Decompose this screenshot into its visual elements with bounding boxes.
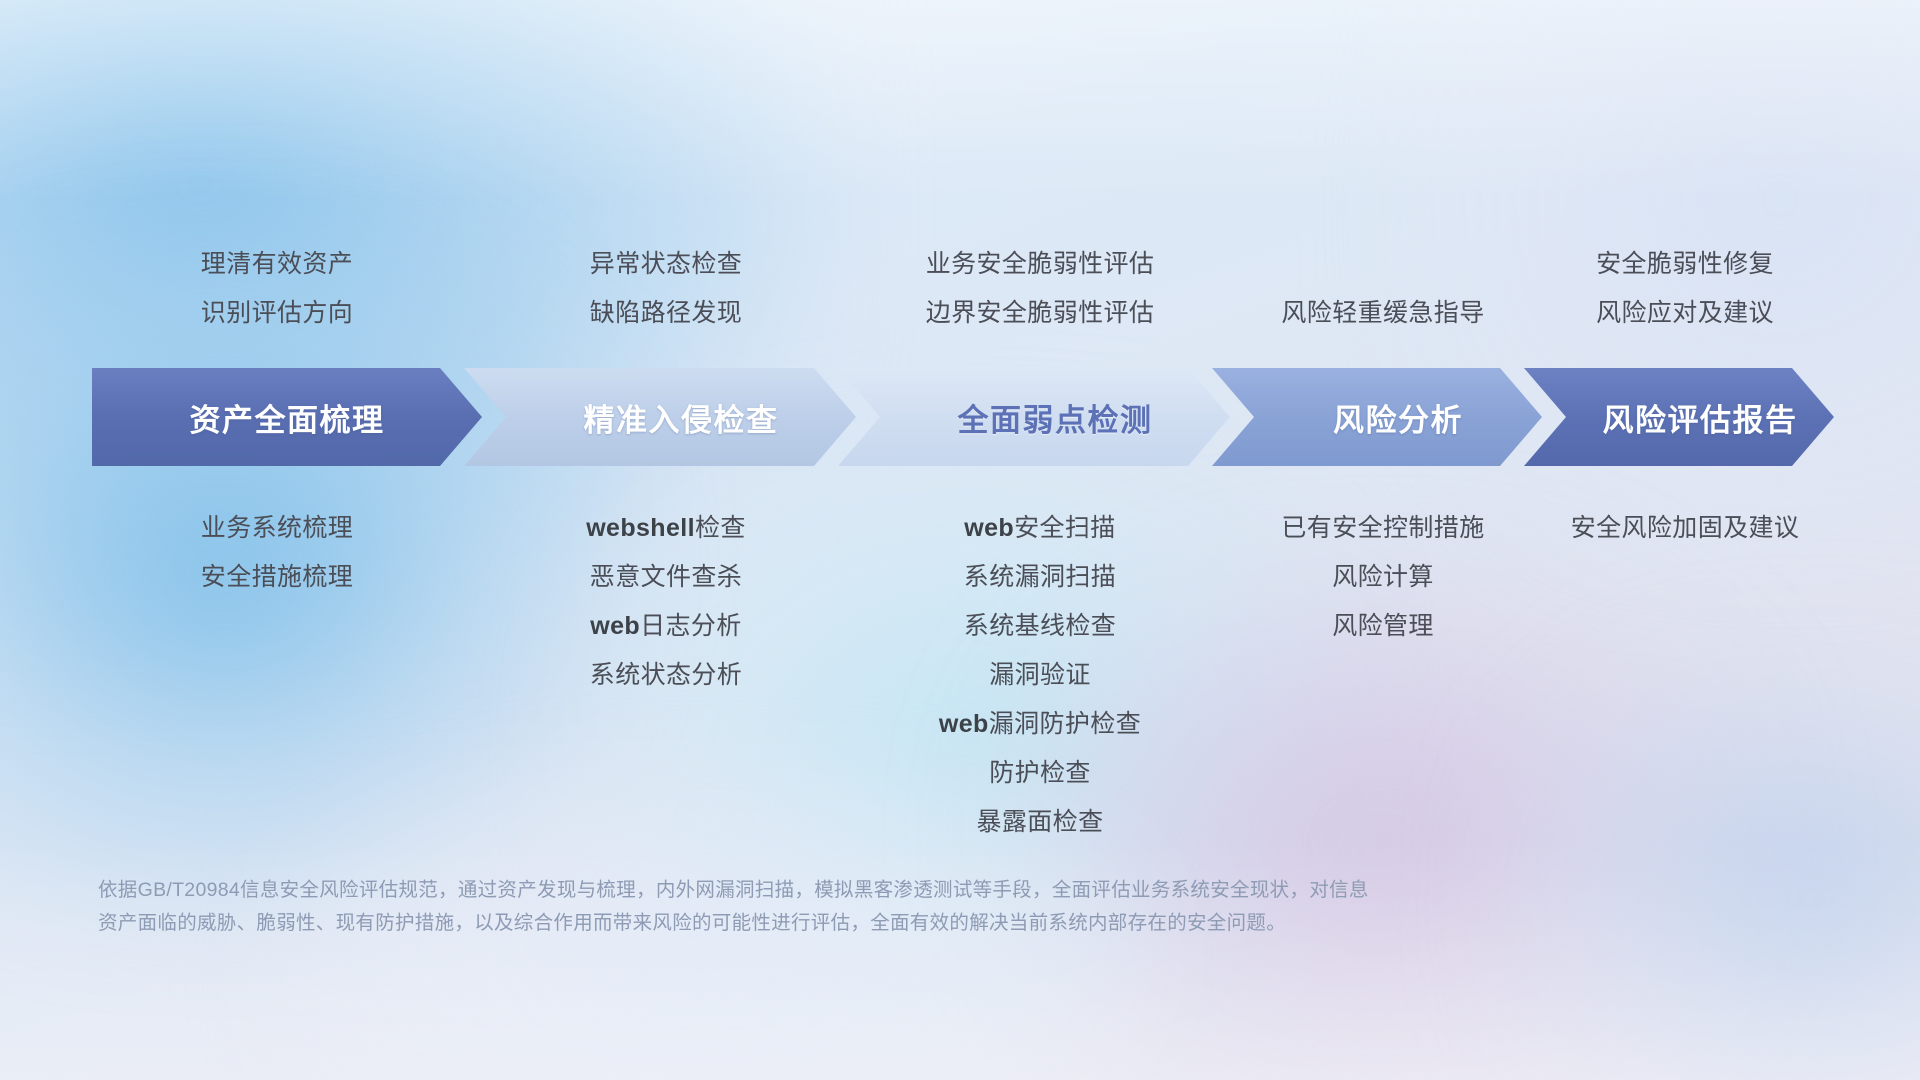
stage-chevron-full-weakness-detection[interactable]: 全面弱点检测 xyxy=(838,368,1230,466)
stage-bottom-item: 风险管理 xyxy=(1083,602,1683,651)
stage-bottom-item: 风险计算 xyxy=(1083,553,1683,602)
stage-bottom-labels-risk-assessment-report: 安全风险加固及建议 xyxy=(1385,504,1920,553)
stage-bottom-item: 漏洞验证 xyxy=(740,651,1340,700)
stage-bottom-item-prefix: web xyxy=(590,612,640,640)
stage-top-item: 风险应对及建议 xyxy=(1385,289,1920,338)
stage-chevron-risk-analysis[interactable]: 风险分析 xyxy=(1212,368,1542,466)
stage-bottom-item: 安全风险加固及建议 xyxy=(1385,504,1920,553)
stage-bottom-item-text: 日志分析 xyxy=(640,612,742,640)
stage-chevron-asset-inventory[interactable]: 资产全面梳理 xyxy=(92,368,482,466)
stage-label-risk-analysis: 风险分析 xyxy=(1333,395,1463,440)
stage-label-asset-inventory: 资产全面梳理 xyxy=(190,395,385,440)
footnote-line-2: 资产面临的威胁、脆弱性、现有防护措施，以及综合作用而带来风险的可能性进行评估，全… xyxy=(98,907,1608,940)
stage-top-labels-risk-assessment-report: 安全脆弱性修复风险应对及建议 xyxy=(1385,240,1920,338)
process-diagram: 理清有效资产识别评估方向异常状态检查缺陷路径发现业务安全脆弱性评估边界安全脆弱性… xyxy=(0,0,1920,1080)
stage-bottom-item-text: 检查 xyxy=(695,514,746,542)
stage-bottom-item: web漏洞防护检查 xyxy=(740,700,1340,749)
stage-label-full-weakness-detection: 全面弱点检测 xyxy=(958,395,1153,440)
stage-bottom-item-prefix: web xyxy=(964,514,1014,542)
stage-bottom-item-text: 漏洞防护检查 xyxy=(989,710,1141,738)
stage-label-precise-intrusion-check: 精准入侵检查 xyxy=(584,395,779,440)
stage-chevron-band: 资产全面梳理精准入侵检查全面弱点检测风险分析风险评估报告 xyxy=(92,368,1834,466)
stage-bottom-item-prefix: webshell xyxy=(586,514,695,542)
stage-top-item: 安全脆弱性修复 xyxy=(1385,240,1920,289)
stage-bottom-item-prefix: web xyxy=(939,710,989,738)
stage-chevron-risk-assessment-report[interactable]: 风险评估报告 xyxy=(1524,368,1834,466)
stage-bottom-item: 防护检查 xyxy=(740,749,1340,798)
footnote-paragraph: 依据GB/T20984信息安全风险评估规范，通过资产发现与梳理，内外网漏洞扫描，… xyxy=(98,874,1608,940)
stage-chevron-precise-intrusion-check[interactable]: 精准入侵检查 xyxy=(464,368,856,466)
footnote-line-1: 依据GB/T20984信息安全风险评估规范，通过资产发现与梳理，内外网漏洞扫描，… xyxy=(98,874,1608,907)
stage-top-item: 业务安全脆弱性评估 xyxy=(740,240,1340,289)
stage-bottom-item: 暴露面检查 xyxy=(740,798,1340,847)
stage-label-risk-assessment-report: 风险评估报告 xyxy=(1603,395,1798,440)
